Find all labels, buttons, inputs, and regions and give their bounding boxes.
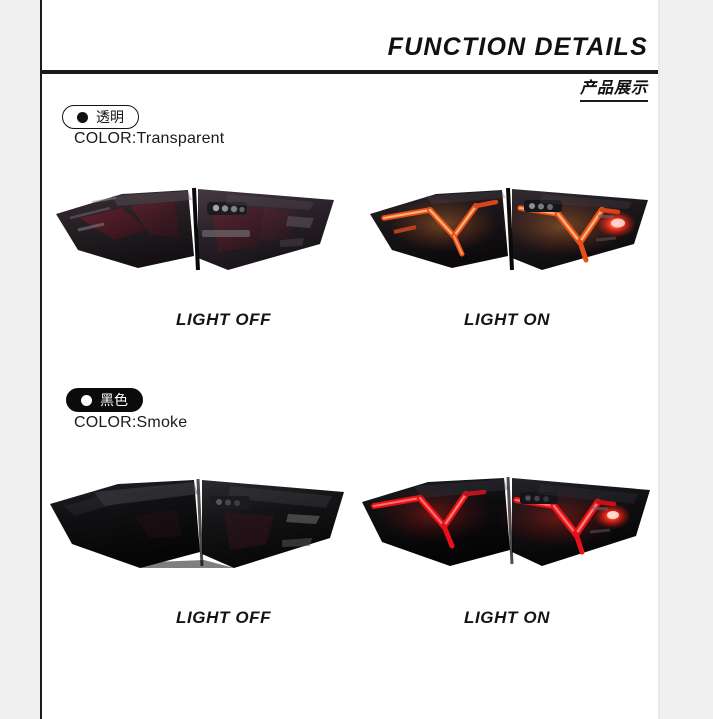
color-swatch-dot-icon <box>77 112 88 123</box>
color-name-smoke: COLOR:Smoke <box>74 414 187 432</box>
caption-smoke-light-on: LIGHT ON <box>464 608 550 628</box>
color-name-transparent: COLOR:Transparent <box>74 130 224 148</box>
caption-smoke-light-off: LIGHT OFF <box>176 608 271 628</box>
color-badge-label: 透明 <box>96 110 124 124</box>
page-subtitle: 产品展示 <box>580 74 648 102</box>
product-image-transparent-light-on <box>366 178 656 278</box>
caption-transparent-light-on: LIGHT ON <box>464 310 550 330</box>
product-detail-page: FUNCTION DETAILS 产品展示 透明 COLOR:Transpare… <box>0 0 713 719</box>
color-swatch-dot-icon <box>81 395 92 406</box>
caption-transparent-light-off: LIGHT OFF <box>176 310 271 330</box>
product-image-smoke-light-on <box>358 472 658 578</box>
color-badge-label: 黑色 <box>100 393 128 407</box>
color-badge-smoke[interactable]: 黑色 <box>66 388 143 412</box>
header-divider <box>42 70 658 74</box>
product-image-transparent-light-off <box>52 178 342 278</box>
section-header: FUNCTION DETAILS 产品展示 <box>40 0 660 96</box>
sheet-right-edge <box>658 0 660 719</box>
color-badge-transparent[interactable]: 透明 <box>62 105 139 129</box>
page-title: FUNCTION DETAILS <box>388 33 648 62</box>
product-image-smoke-light-off <box>44 472 354 578</box>
